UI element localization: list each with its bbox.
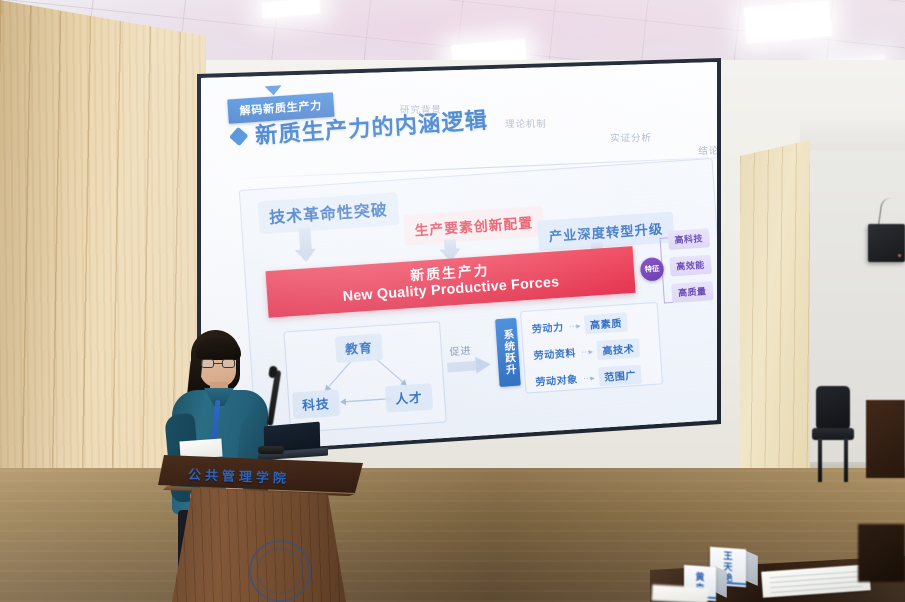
nav-item-2[interactable]: 实证分析 (610, 130, 652, 144)
feature-badge-0: 高科技 (668, 228, 710, 250)
nav-item-3[interactable]: 结论与建议 (698, 143, 717, 157)
arrow-dash-icon: ⋯▸ (569, 320, 580, 330)
chair-leg (818, 438, 822, 482)
promote-label: 促进 (449, 342, 472, 358)
arrow-dash-icon: ⋯▸ (581, 346, 592, 356)
foreground-furniture (858, 524, 905, 582)
diamond-bullet-icon (229, 126, 248, 145)
system-upgrade-text: 系统跃升 (500, 329, 515, 376)
speaker-led-icon (898, 254, 901, 257)
triangle-node-left: 科技 (292, 389, 340, 419)
arrow-dash-icon: ⋯▸ (583, 373, 594, 383)
arrow-right-icon (447, 356, 493, 376)
chair (812, 386, 854, 482)
nav-item-1[interactable]: 理论机制 (505, 116, 547, 130)
presenter-fringe (196, 338, 241, 360)
wall-speaker (868, 224, 905, 262)
factor-from-0: 劳动力 (531, 319, 564, 336)
nav-item-0[interactable]: 研究背景 (400, 102, 442, 116)
factor-from-2: 劳动对象 (535, 371, 578, 389)
speaker-cable (878, 197, 900, 227)
microphone-base (258, 446, 284, 454)
feature-badge-2: 高质量 (671, 281, 713, 303)
paper-lines (769, 569, 862, 593)
table-paper-secondary (652, 585, 709, 602)
lecture-hall-scene: 解码新质生产力 新质生产力的内涵逻辑 研究背景 理论机制 实证分析 结论与建议 … (0, 0, 905, 602)
triangle-node-right: 人才 (385, 383, 433, 413)
glasses-icon (201, 359, 235, 368)
ceiling-panel-light (744, 0, 833, 43)
chair-leg (844, 438, 848, 482)
factor-from-1: 劳动资料 (533, 345, 576, 363)
wooden-cabinet (866, 400, 905, 478)
chair-back (816, 386, 850, 430)
feature-badge-1: 高效能 (669, 255, 711, 277)
factor-to-1: 高技术 (596, 338, 640, 360)
factor-to-0: 高素质 (584, 312, 628, 334)
system-upgrade-label: 系统跃升 (495, 318, 521, 387)
caret-down-icon (265, 85, 283, 96)
arrow-down-icon (293, 227, 318, 264)
podium-label: 公共管理学院 (188, 464, 291, 487)
triangle-node-top: 教育 (335, 333, 383, 363)
emblem-inner-ring (256, 547, 304, 595)
factor-to-2: 范围广 (598, 365, 642, 387)
placard-side (744, 550, 758, 586)
